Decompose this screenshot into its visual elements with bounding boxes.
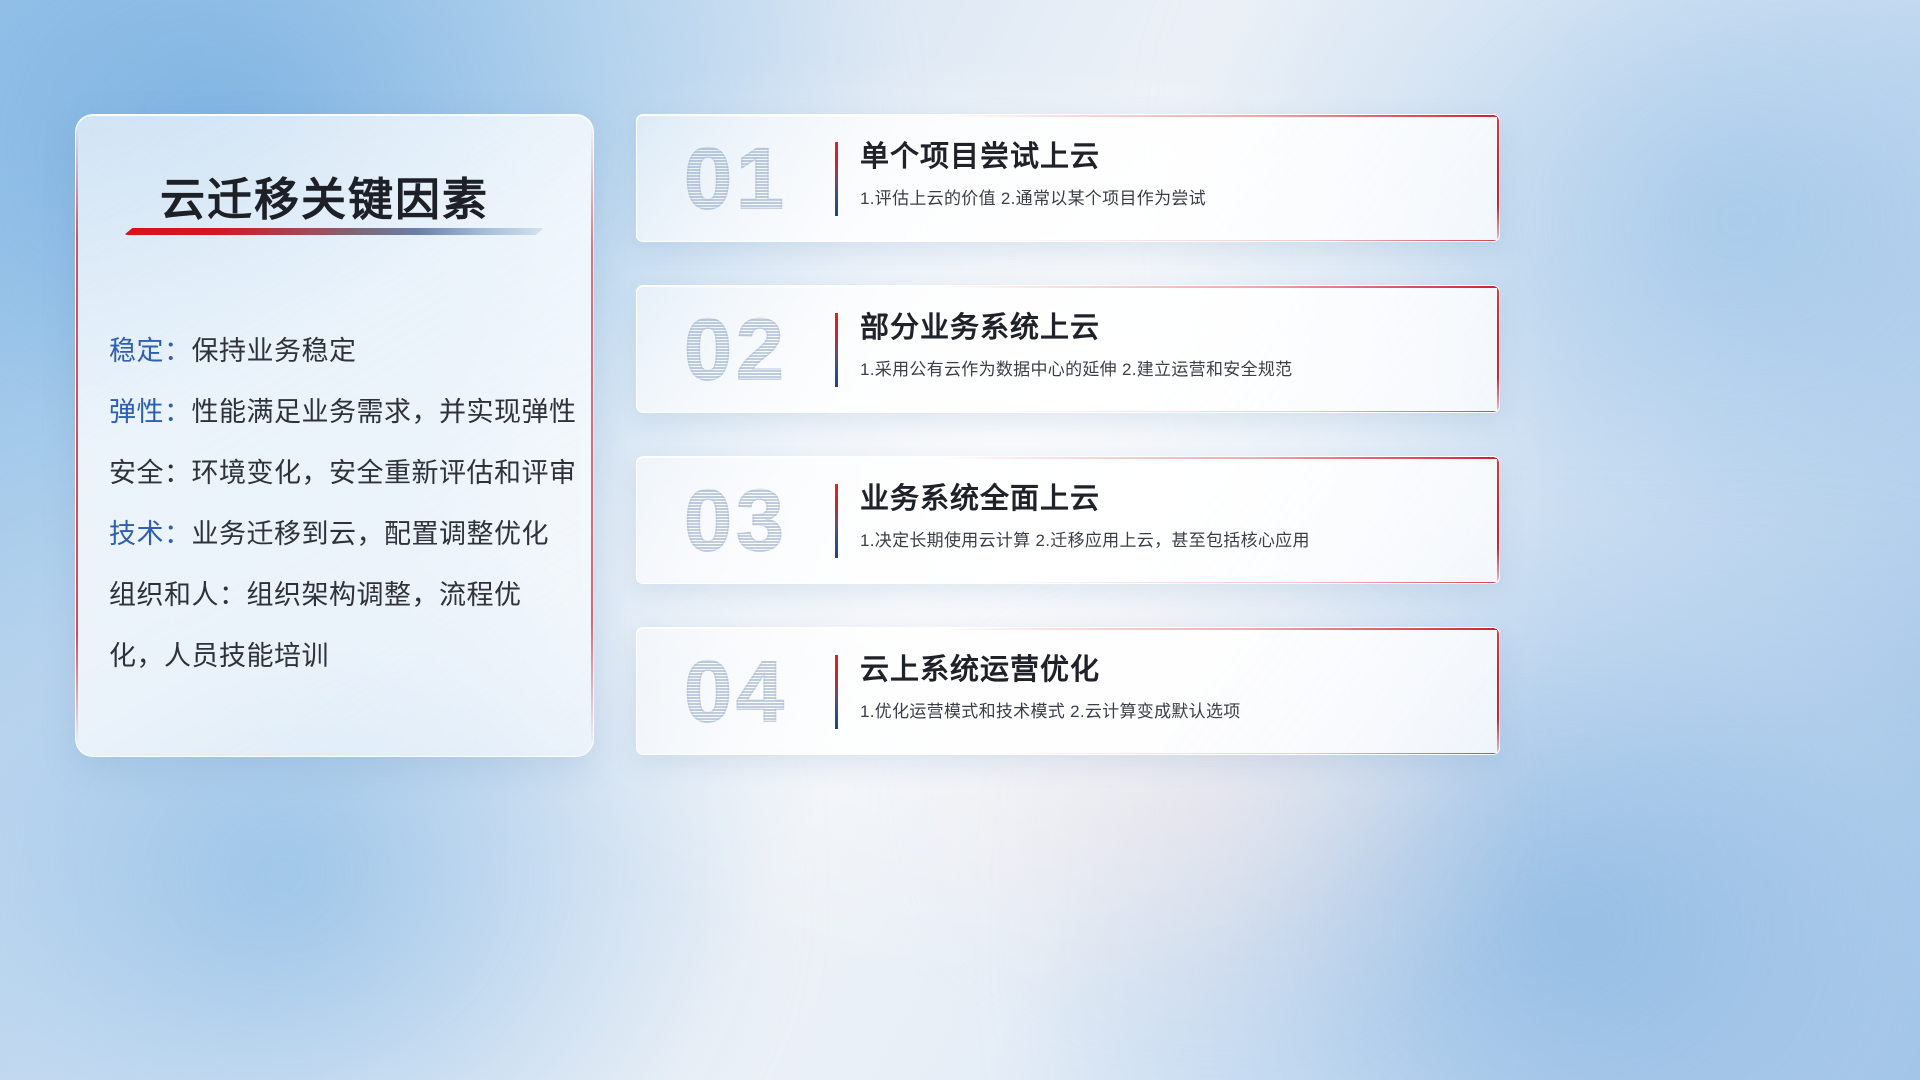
- card-bottom-accent-line: [637, 582, 1499, 584]
- key-factors-panel: 云迁移关键因素 稳定：保持业务稳定 弹性：性能满足业务需求，并实现弹性 安全：环…: [75, 114, 594, 757]
- page-title: 云迁移关键因素: [160, 163, 489, 228]
- card-top-accent-line: [637, 457, 1499, 459]
- stage-number-glyph: 04: [684, 643, 788, 742]
- card-accent-bar: [835, 484, 838, 558]
- card-text-block: 业务系统全面上云 1.决定长期使用云计算 2.迁移应用上云，甚至包括核心应用: [860, 479, 1469, 553]
- list-item-text: 性能满足业务需求，并实现弹性: [192, 397, 577, 427]
- card-accent-bar: [835, 655, 838, 729]
- card-top-accent-line: [637, 286, 1499, 288]
- card-title: 业务系统全面上云: [860, 479, 1469, 519]
- stage-number-03: 03: [661, 475, 811, 567]
- migration-stage-cards: 01 单个项目尝试上云 1.评估上云的价值 2.通常以某个项目作为尝试 02 部…: [636, 114, 1500, 798]
- card-top-accent-line: [637, 628, 1499, 630]
- list-item: 技术：业务迁移到云，配置调整优化: [109, 504, 567, 565]
- list-item-key: 组织和人：: [109, 580, 247, 610]
- card-bottom-accent-line: [637, 753, 1499, 755]
- card-bottom-accent-line: [637, 240, 1499, 242]
- list-item-text: 环境变化，安全重新评估和评审: [192, 458, 577, 488]
- card-text-block: 部分业务系统上云 1.采用公有云作为数据中心的延伸 2.建立运营和安全规范: [860, 308, 1469, 382]
- list-item: 弹性：性能满足业务需求，并实现弹性: [109, 382, 567, 443]
- stage-card-03[interactable]: 03 业务系统全面上云 1.决定长期使用云计算 2.迁移应用上云，甚至包括核心应…: [636, 456, 1500, 584]
- stage-number-01: 01: [661, 133, 811, 225]
- list-item-key: 弹性：: [109, 397, 192, 427]
- card-subtitle: 1.优化运营模式和技术模式 2.云计算变成默认选项: [860, 700, 1469, 724]
- card-title: 云上系统运营优化: [860, 650, 1469, 690]
- list-item-key: 安全：: [109, 458, 192, 488]
- card-subtitle: 1.决定长期使用云计算 2.迁移应用上云，甚至包括核心应用: [860, 529, 1469, 553]
- card-subtitle: 1.评估上云的价值 2.通常以某个项目作为尝试: [860, 187, 1469, 211]
- key-factors-list: 稳定：保持业务稳定 弹性：性能满足业务需求，并实现弹性 安全：环境变化，安全重新…: [109, 321, 567, 687]
- card-text-block: 单个项目尝试上云 1.评估上云的价值 2.通常以某个项目作为尝试: [860, 137, 1469, 211]
- list-item-key: 技术：: [109, 519, 192, 549]
- stage-number-02: 02: [661, 304, 811, 396]
- card-title: 单个项目尝试上云: [860, 137, 1469, 177]
- card-accent-bar: [835, 313, 838, 387]
- stage-card-01[interactable]: 01 单个项目尝试上云 1.评估上云的价值 2.通常以某个项目作为尝试: [636, 114, 1500, 242]
- card-title: 部分业务系统上云: [860, 308, 1469, 348]
- card-bottom-accent-line: [637, 411, 1499, 413]
- stage-card-02[interactable]: 02 部分业务系统上云 1.采用公有云作为数据中心的延伸 2.建立运营和安全规范: [636, 285, 1500, 413]
- stage-number-glyph: 03: [684, 472, 788, 571]
- list-item: 安全：环境变化，安全重新评估和评审: [109, 443, 567, 504]
- stage-number-04: 04: [661, 646, 811, 738]
- title-underline-rule: [124, 228, 544, 235]
- stage-card-04[interactable]: 04 云上系统运营优化 1.优化运营模式和技术模式 2.云计算变成默认选项: [636, 627, 1500, 755]
- stage-number-glyph: 02: [684, 301, 788, 400]
- card-text-block: 云上系统运营优化 1.优化运营模式和技术模式 2.云计算变成默认选项: [860, 650, 1469, 724]
- list-item-text: 业务迁移到云，配置调整优化: [192, 519, 550, 549]
- card-subtitle: 1.采用公有云作为数据中心的延伸 2.建立运营和安全规范: [860, 358, 1469, 382]
- list-item: 组织和人：组织架构调整，流程优化，人员技能培训: [109, 565, 567, 687]
- stage-number-glyph: 01: [684, 130, 788, 229]
- list-item: 稳定：保持业务稳定: [109, 321, 567, 382]
- card-top-accent-line: [637, 115, 1499, 117]
- list-item-key: 稳定：: [109, 336, 192, 366]
- list-item-text: 保持业务稳定: [192, 336, 357, 366]
- card-accent-bar: [835, 142, 838, 216]
